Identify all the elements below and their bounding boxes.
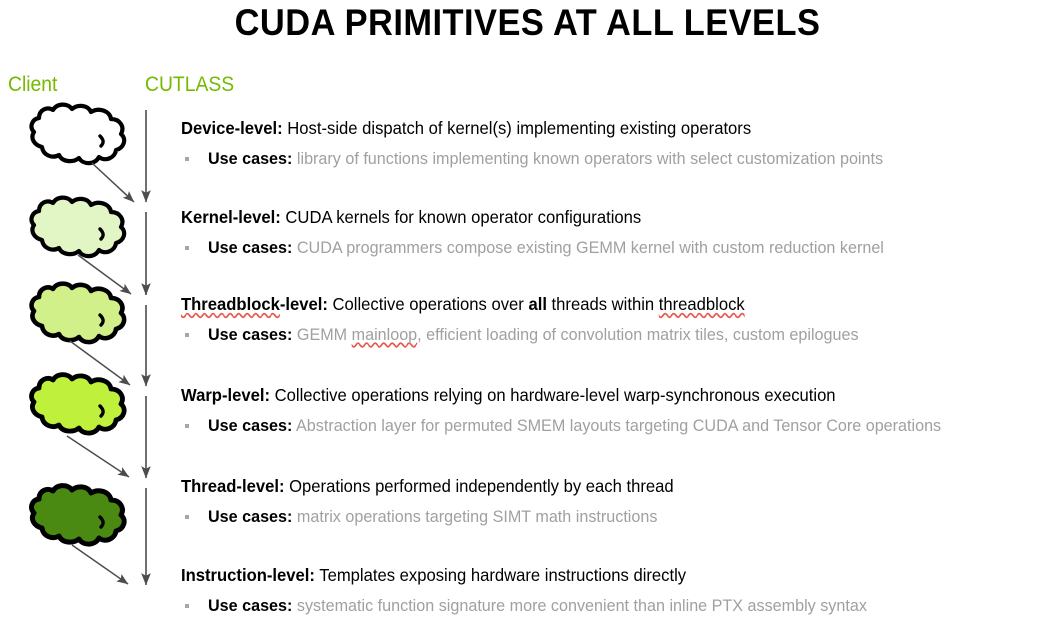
level-block-threadblock-level: Threadblock-level: Collective operations… [181,293,1053,346]
level-label: Instruction-level: [181,565,315,585]
usecase-text: systematic function signature more conve… [297,596,867,615]
usecase-content: Use cases: CUDA programmers compose exis… [208,237,884,259]
level-heading: Device-level: Host-side dispatch of kern… [181,117,1009,139]
usecase-label: Use cases: [208,149,292,168]
level-label: Device-level: [181,118,283,138]
usecase-label: Use cases: [208,238,292,257]
level-description: Host-side dispatch of kernel(s) implemen… [287,118,751,138]
usecase-text: matrix operations targeting SIMT math in… [297,507,658,526]
usecase-text: CUDA programmers compose existing GEMM k… [297,238,884,257]
usecase-row: Use cases: systematic function signature… [181,595,1053,617]
level-description-part: threadblock [659,294,745,314]
level-block-warp-level: Warp-level: Collective operations relyin… [181,384,1053,437]
usecase-label: Use cases: [208,507,292,526]
level-description-part: all [528,294,546,314]
usecase-text-part: , efficient loading of convolution matri… [417,325,858,344]
usecase-row: Use cases: GEMM mainloop, efficient load… [181,324,1053,346]
level-label: Thread-level: [181,476,284,496]
usecase-content: Use cases: systematic function signature… [208,595,867,617]
level-description-part: threads within [547,294,659,314]
level-description: Collective operations relying on hardwar… [275,385,836,405]
level-heading: Threadblock-level: Collective operations… [181,293,1009,315]
level-label: Warp-level: [181,385,270,405]
level-description: Collective operations over all threads w… [333,294,745,314]
level-list: Device-level: Host-side dispatch of kern… [0,0,1055,637]
usecase-content: Use cases: library of functions implemen… [208,148,883,170]
usecase-text-part: mainloop [352,325,418,344]
level-heading: Instruction-level: Templates exposing ha… [181,564,1009,586]
usecase-content: Use cases: GEMM mainloop, efficient load… [208,324,859,346]
level-block-device-level: Device-level: Host-side dispatch of kern… [181,117,1053,170]
usecase-label: Use cases: [208,416,292,435]
level-block-thread-level: Thread-level: Operations performed indep… [181,475,1053,528]
level-heading: Kernel-level: CUDA kernels for known ope… [181,206,1009,228]
usecase-text: Abstraction layer for permuted SMEM layo… [296,416,941,435]
usecase-label: Use cases: [208,596,292,615]
level-block-instruction-level: Instruction-level: Templates exposing ha… [181,564,1053,617]
bullet-icon [185,515,189,519]
level-label: Threadblock [181,294,280,314]
bullet-icon [185,333,189,337]
level-label: Kernel-level: [181,207,281,227]
usecase-row: Use cases: library of functions implemen… [181,148,1053,170]
usecase-text: GEMM mainloop, efficient loading of conv… [297,325,859,344]
usecase-row: Use cases: CUDA programmers compose exis… [181,237,1053,259]
usecase-label: Use cases: [208,325,292,344]
level-label-suffix: -level: [280,294,328,314]
level-heading: Thread-level: Operations performed indep… [181,475,1009,497]
level-block-kernel-level: Kernel-level: CUDA kernels for known ope… [181,206,1053,259]
bullet-icon [185,157,189,161]
usecase-text-part: GEMM [297,325,352,344]
usecase-content: Use cases: Abstraction layer for permute… [208,415,941,437]
level-description: CUDA kernels for known operator configur… [285,207,641,227]
level-description: Operations performed independently by ea… [289,476,673,496]
level-description: Templates exposing hardware instructions… [319,565,686,585]
bullet-icon [185,246,189,250]
bullet-icon [185,424,189,428]
usecase-row: Use cases: matrix operations targeting S… [181,506,1053,528]
usecase-content: Use cases: matrix operations targeting S… [208,506,657,528]
bullet-icon [185,604,189,608]
level-description-part: Collective operations over [333,294,529,314]
level-heading: Warp-level: Collective operations relyin… [181,384,1009,406]
usecase-text: library of functions implementing known … [297,149,883,168]
usecase-row: Use cases: Abstraction layer for permute… [181,415,1053,437]
